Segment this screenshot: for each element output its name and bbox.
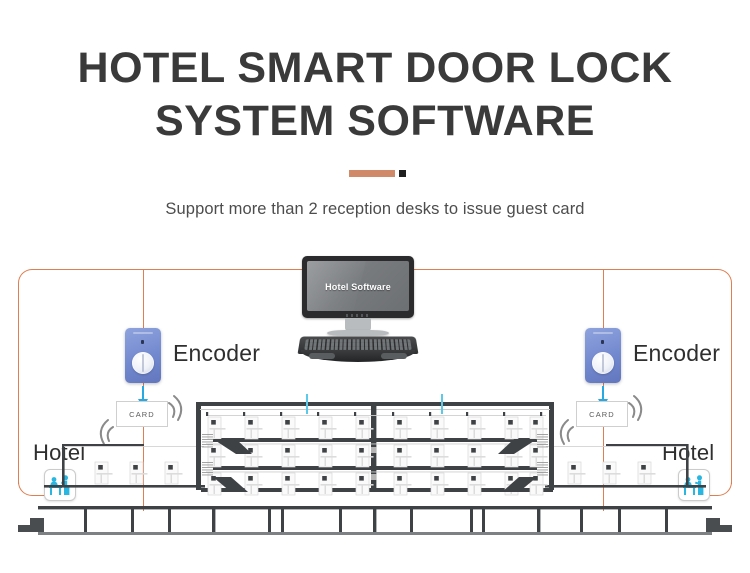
frame-corner-top-right (706, 269, 732, 295)
keyboard-keys (304, 339, 411, 350)
encoder-group-right: Encoder (585, 328, 621, 383)
frame-corner-top-left (18, 269, 44, 295)
encoder-device-right (585, 328, 621, 383)
encoder-group-left: Encoder (125, 328, 161, 383)
riser-line-left (306, 394, 308, 414)
encoder-led-left (141, 340, 144, 344)
monitor-screen: Hotel Software (307, 261, 409, 311)
page-title-line-2: SYSTEM SOFTWARE (0, 95, 750, 148)
encoder-led-right (601, 340, 604, 344)
encoder-device-left (125, 328, 161, 383)
hotel-software-monitor: Hotel Software (302, 256, 414, 318)
hotel-building-section (0, 392, 750, 542)
monitor-led-strip (346, 314, 370, 317)
encoder-top-slot-left (133, 332, 153, 334)
title-accent-bar (349, 170, 395, 177)
encoder-reader-right (592, 352, 614, 374)
keyboard-icon (299, 336, 417, 363)
keyboard-pad-left (309, 353, 335, 359)
page-root: HOTEL SMART DOOR LOCK SYSTEM SOFTWARE Su… (0, 0, 750, 573)
page-title: HOTEL SMART DOOR LOCK SYSTEM SOFTWARE (0, 42, 750, 148)
encoder-label-right: Encoder (633, 340, 720, 367)
keyboard-pad-right (381, 353, 407, 359)
encoder-reader-left (132, 352, 154, 374)
monitor-screen-label: Hotel Software (307, 282, 409, 292)
title-accent-dot (399, 170, 406, 177)
encoder-top-slot-right (593, 332, 613, 334)
page-title-line-1: HOTEL SMART DOOR LOCK (0, 42, 750, 95)
page-subtitle: Support more than 2 reception desks to i… (0, 200, 750, 219)
riser-line-right (441, 394, 443, 414)
encoder-label-left: Encoder (173, 340, 260, 367)
